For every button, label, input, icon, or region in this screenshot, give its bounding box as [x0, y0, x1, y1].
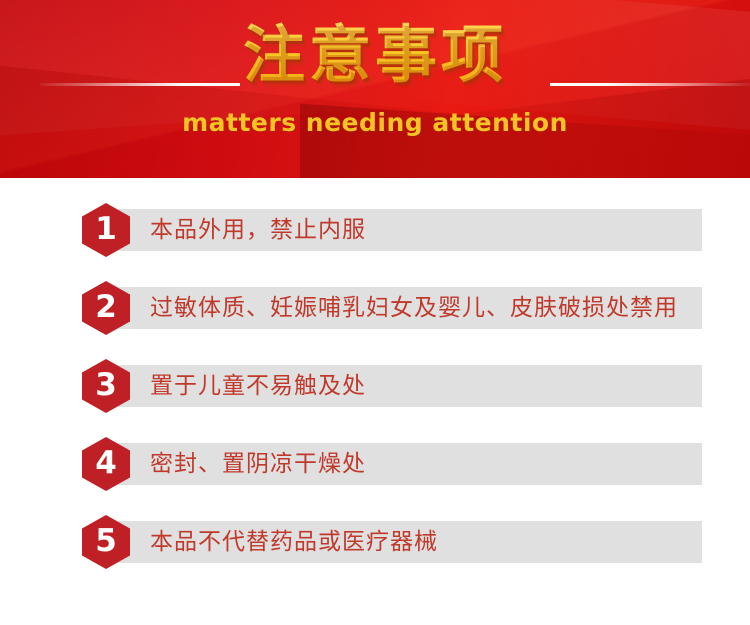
notice-text: 密封、置阴凉干燥处 [150, 443, 366, 485]
notice-text: 过敏体质、妊娠哺乳妇女及婴儿、皮肤破损处禁用 [150, 287, 678, 329]
list-item: 4 密封、置阴凉干燥处 [0, 437, 750, 485]
banner-title: 注意事项 [0, 18, 750, 92]
list-item: 2 过敏体质、妊娠哺乳妇女及婴儿、皮肤破损处禁用 [0, 281, 750, 329]
notice-banner: 注意事项 matters needing attention [0, 0, 750, 178]
list-item: 1 本品外用，禁止内服 [0, 203, 750, 251]
notice-number-label: 1 [95, 214, 117, 246]
list-item: 3 置于儿童不易触及处 [0, 359, 750, 407]
banner-content: 注意事项 matters needing attention [0, 0, 750, 178]
notice-text: 本品外用，禁止内服 [150, 209, 366, 251]
list-item: 5 本品不代替药品或医疗器械 [0, 515, 750, 563]
notice-text: 本品不代替药品或医疗器械 [150, 521, 438, 563]
notice-text: 置于儿童不易触及处 [150, 365, 366, 407]
notice-number-label: 3 [95, 370, 117, 402]
notice-number-label: 2 [95, 292, 117, 324]
banner-subtitle: matters needing attention [0, 108, 750, 138]
notice-number-label: 4 [95, 448, 117, 480]
notice-list: 1 本品外用，禁止内服 2 过敏体质、妊娠哺乳妇女及婴儿、皮肤破损处禁用 3 置… [0, 178, 750, 563]
notice-number-label: 5 [95, 526, 117, 558]
